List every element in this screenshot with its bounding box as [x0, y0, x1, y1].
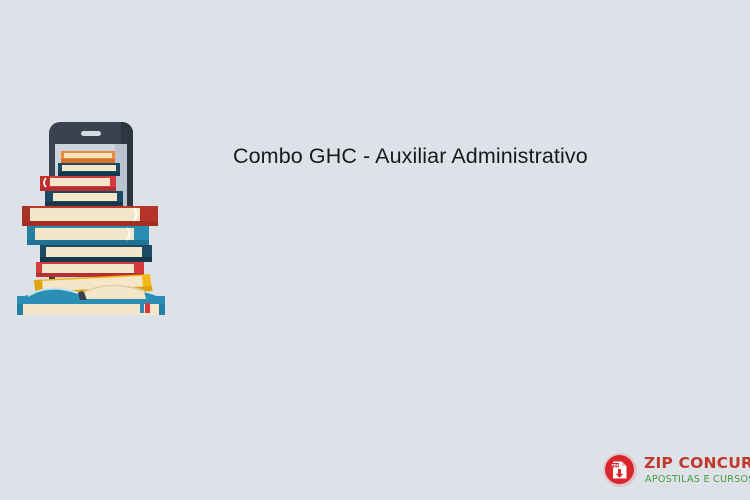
- book-navy-upper: [58, 163, 120, 176]
- product-banner: Combo GHC - Auxiliar Administrativo PDF …: [0, 0, 750, 500]
- book-navy-lower: [40, 245, 152, 262]
- brand-wordmark: ZIP CONCURSOS APOSTILAS E CURSOS: [644, 455, 750, 484]
- book-navy-mid: [45, 191, 123, 206]
- product-title: Combo GHC - Auxiliar Administrativo: [233, 142, 588, 170]
- book-blue-mid: [27, 226, 149, 245]
- pdf-download-circle-icon: PDF: [602, 452, 638, 488]
- book-red-lower: [36, 262, 144, 277]
- book-red-large: [22, 206, 158, 226]
- brand-logo[interactable]: PDF ZIP CONCURSOS APOSTILAS E CURSOS: [602, 450, 742, 490]
- brand-tagline: APOSTILAS E CURSOS: [644, 475, 750, 485]
- book-red-upper: [40, 176, 116, 191]
- book-orange-top: [61, 151, 115, 163]
- stack-of-books-and-tablet-illustration: [12, 120, 170, 315]
- svg-text:PDF: PDF: [611, 463, 618, 467]
- brand-name: ZIP CONCURSOS: [644, 456, 750, 472]
